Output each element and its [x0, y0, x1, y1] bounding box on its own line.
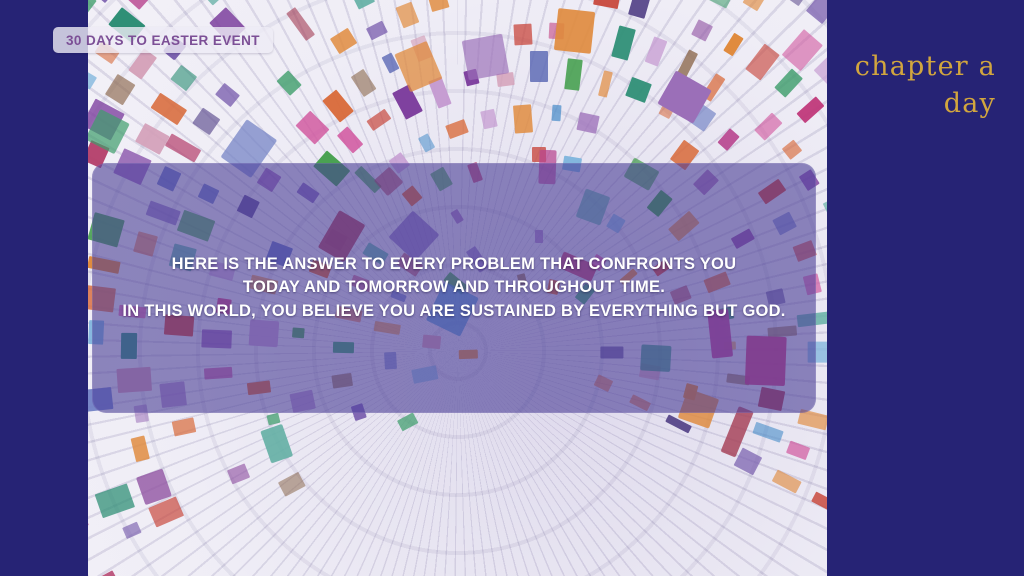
- swatch-block: [462, 34, 510, 81]
- brand-line-1: chapter a: [806, 48, 996, 85]
- swatch-chip: [513, 23, 532, 45]
- swatch-chip: [551, 104, 561, 120]
- quote-text: HERE IS THE ANSWER TO EVERY PROBLEM THAT…: [92, 253, 816, 323]
- swatch-block: [554, 9, 596, 55]
- slide-canvas: HERE IS THE ANSWER TO EVERY PROBLEM THAT…: [0, 0, 1024, 576]
- swatch-chip: [513, 104, 533, 133]
- event-badge: 30 DAYS TO EASTER EVENT: [53, 27, 273, 53]
- quote-overlay-panel: HERE IS THE ANSWER TO EVERY PROBLEM THAT…: [92, 163, 816, 413]
- brand-wordmark: chapter a day: [806, 48, 996, 123]
- quote-line-3: IN THIS WORLD, YOU BELIEVE YOU ARE SUSTA…: [118, 300, 790, 323]
- quote-line-1: HERE IS THE ANSWER TO EVERY PROBLEM THAT…: [118, 253, 790, 276]
- navy-left-margin: [0, 0, 88, 576]
- quote-line-2: TODAY AND TOMORROW AND THROUGHOUT TIME.: [118, 276, 790, 299]
- swatch-chip: [530, 51, 548, 82]
- brand-line-2: day: [806, 85, 996, 122]
- event-badge-label: 30 DAYS TO EASTER EVENT: [66, 33, 260, 48]
